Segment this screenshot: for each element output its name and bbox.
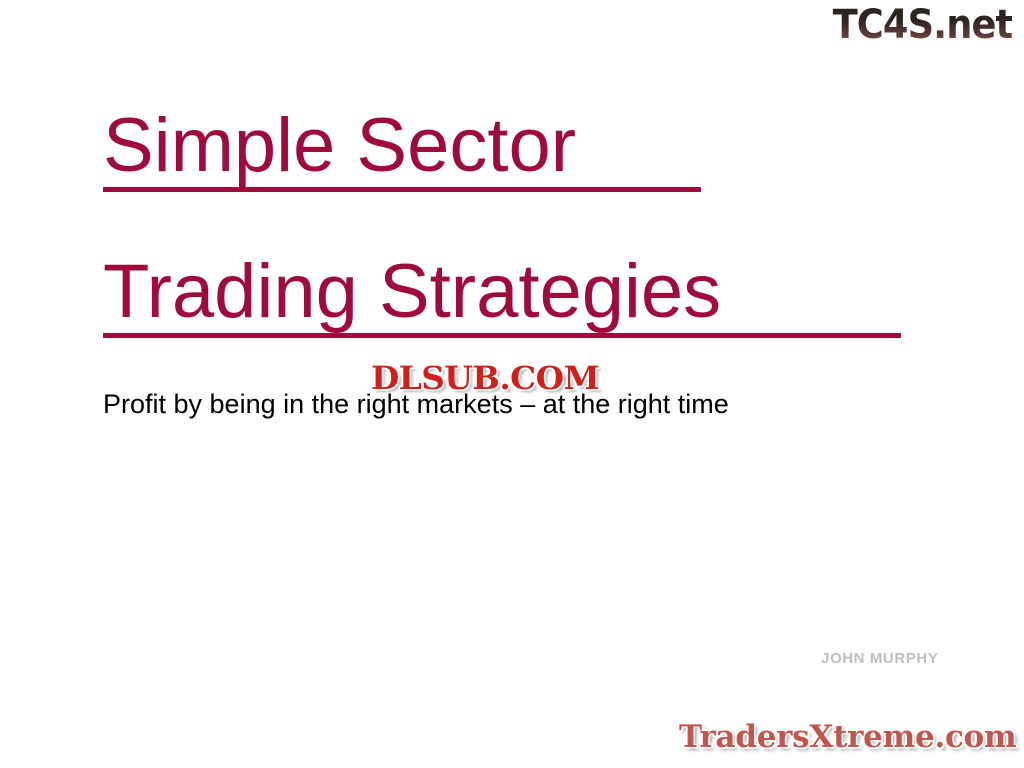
- page-title-line-2: Trading Strategies: [103, 250, 943, 334]
- page-title-line-1: Simple Sector: [103, 104, 943, 188]
- page-subtitle: Profit by being in the right markets – a…: [103, 388, 729, 420]
- slide-canvas: TC4S.net Simple Sector Trading Strategie…: [0, 0, 1024, 768]
- watermark-tc4s: TC4S.net: [832, 2, 1012, 48]
- watermark-tradersxtreme: TradersXtreme.com: [679, 718, 1016, 756]
- author-credit: JOHN MURPHY: [821, 650, 938, 667]
- title-block: Simple Sector Trading Strategies: [103, 104, 943, 334]
- page-title-line-2-text: Trading Strategies: [103, 249, 721, 334]
- page-title-line-1-text: Simple Sector: [103, 103, 576, 188]
- title-underline-2: [103, 333, 901, 338]
- title-underline-1: [103, 187, 701, 192]
